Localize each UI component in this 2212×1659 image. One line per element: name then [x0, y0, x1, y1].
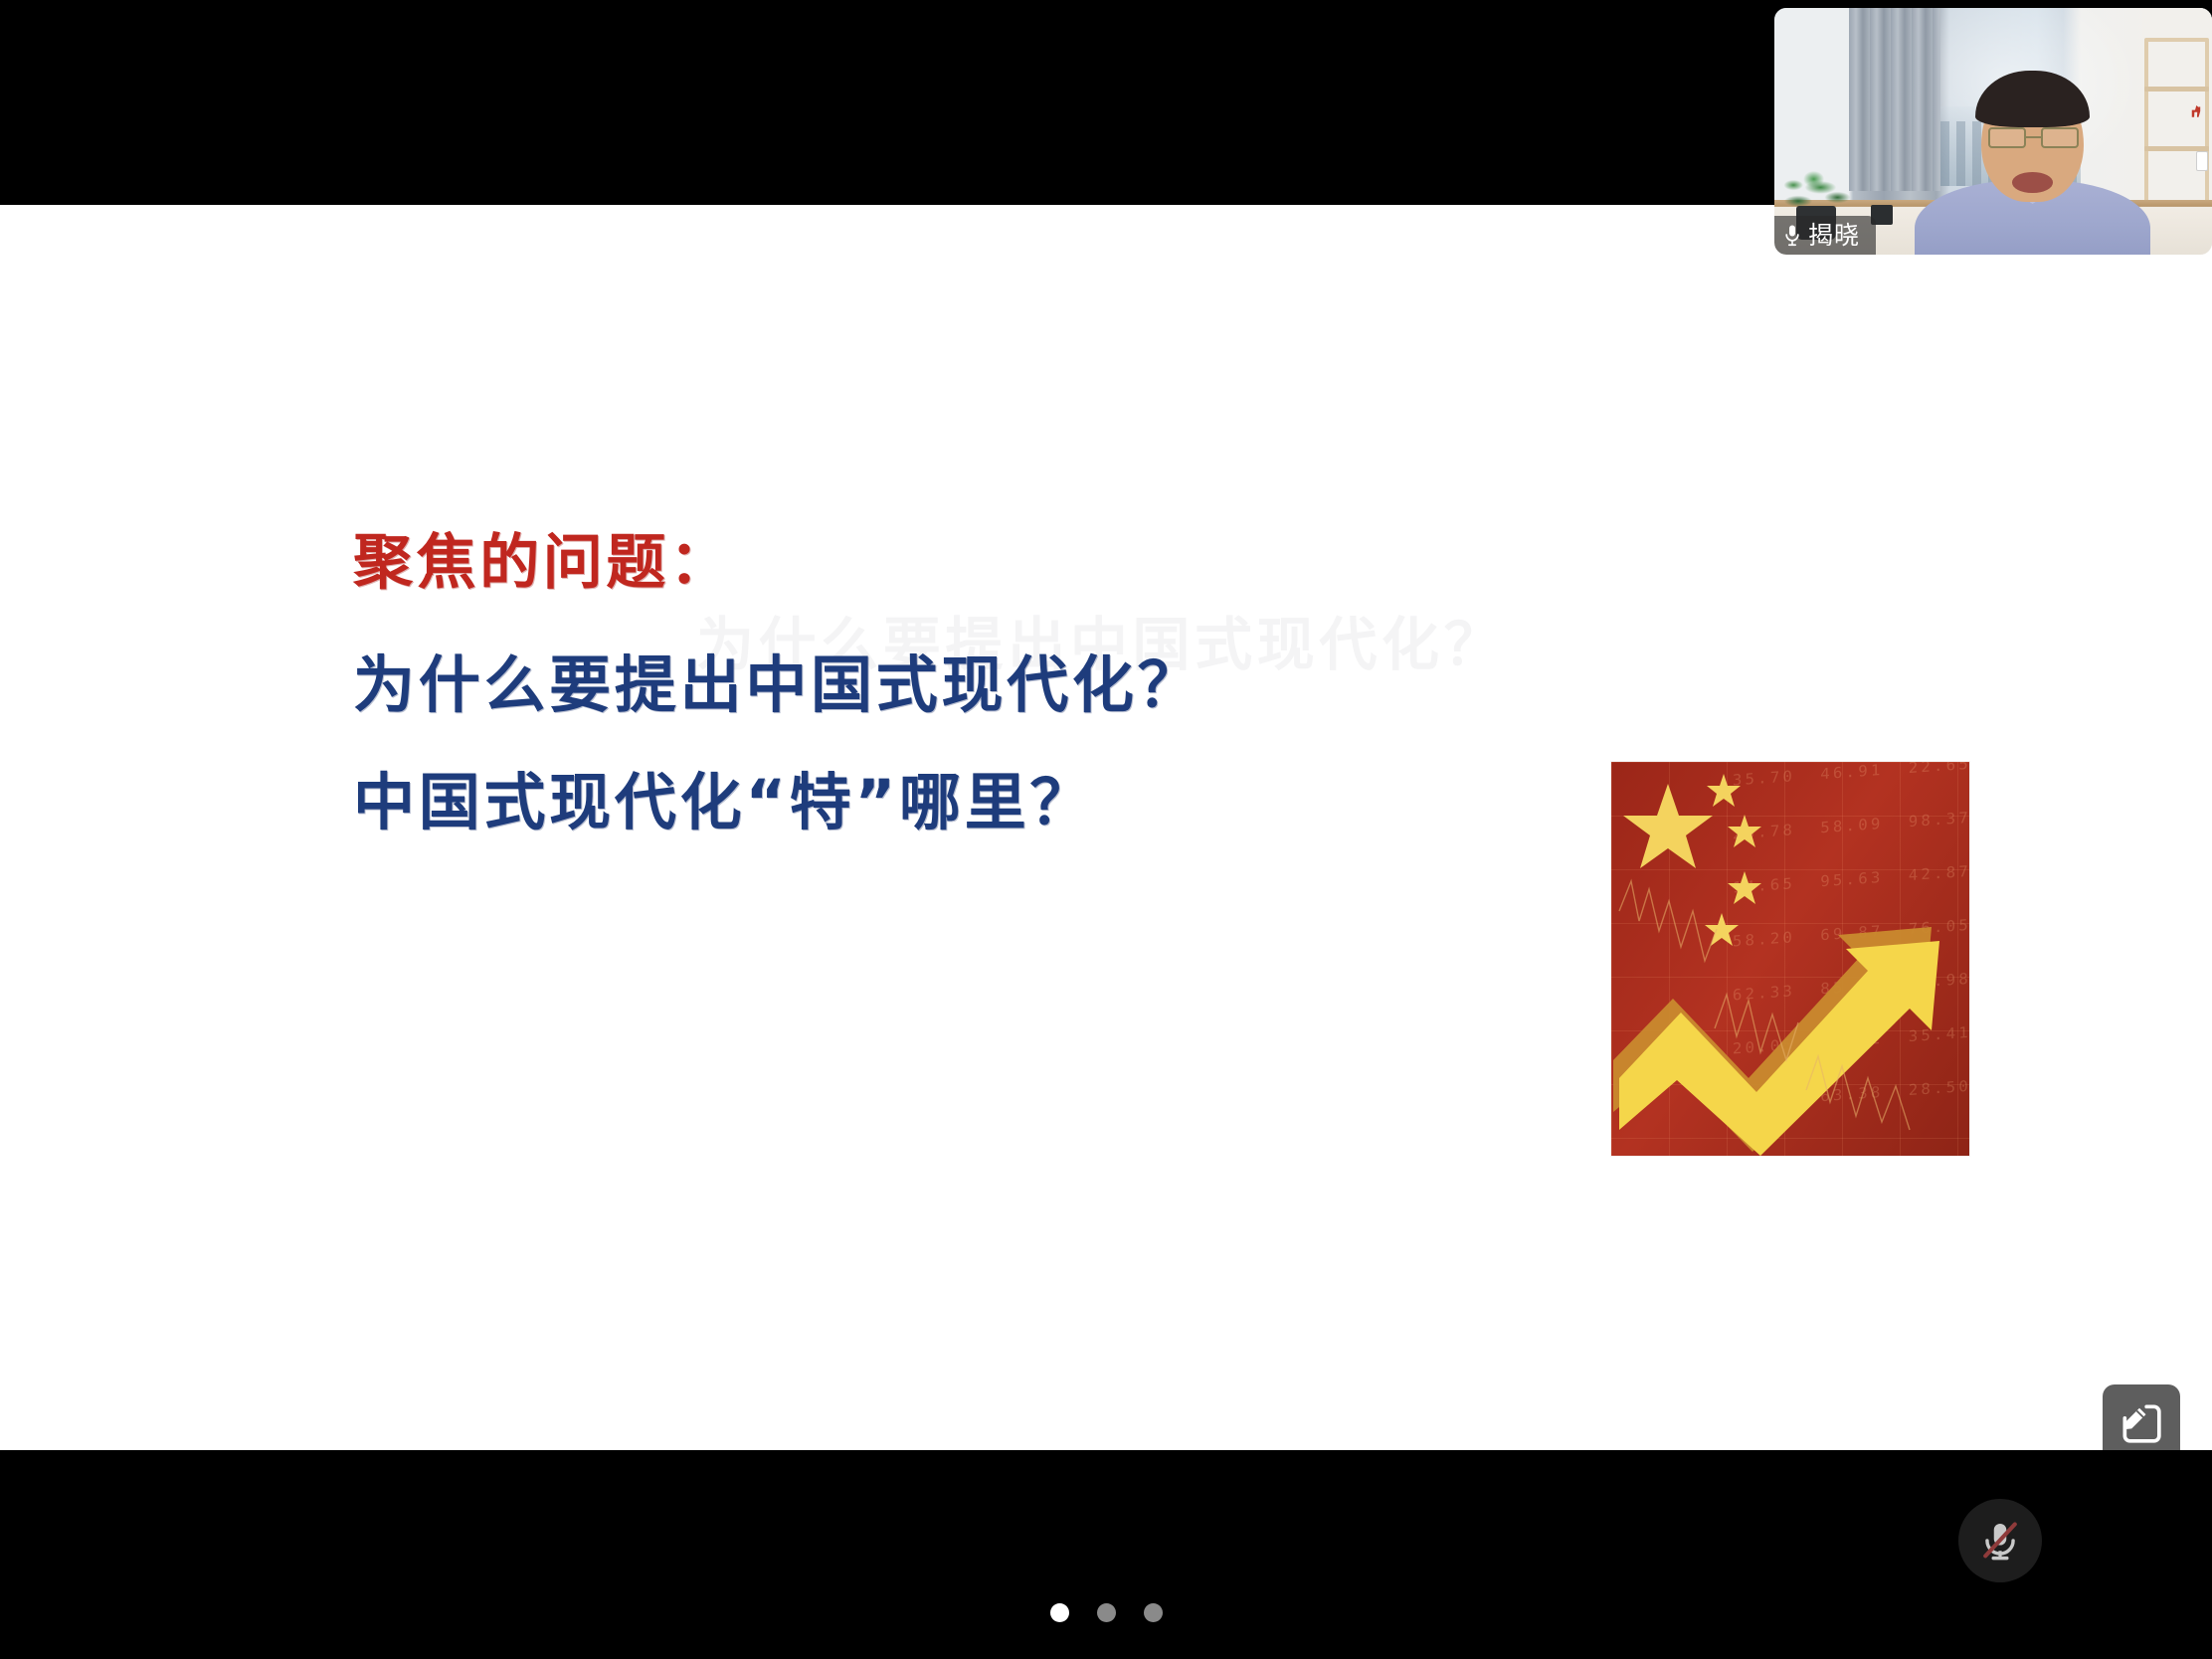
rising-arrow-icon — [1611, 762, 1969, 1156]
participant-person — [1940, 68, 2124, 255]
microphone-icon — [1784, 224, 1800, 248]
person-mouth — [2012, 172, 2053, 193]
pencil-square-annotate-icon — [2119, 1400, 2164, 1446]
microphone-muted-icon — [1975, 1516, 2025, 1566]
curtain — [1849, 8, 1940, 191]
glasses-lens-left — [1988, 127, 2026, 148]
participant-name-label: 揭晓 — [1808, 223, 1860, 248]
mic-mute-button[interactable] — [1958, 1499, 2042, 1582]
page-dot-1[interactable] — [1050, 1603, 1069, 1622]
shelf-board-1 — [2144, 87, 2209, 92]
shelf-frame — [2144, 38, 2209, 216]
participant-name-chip: 揭晓 — [1774, 216, 1876, 255]
shared-slide-surface[interactable]: 为什么要提出中国式现代化？ 聚焦的问题： 为什么要提出中国式现代化？ 中国式现代… — [0, 205, 2212, 1450]
slide-question-1: 为什么要提出中国式现代化？ — [353, 654, 1497, 716]
slide-picture-china-growth: 35.70 46.91 22.65 38.92 34.96 08.85 15.2… — [1611, 762, 1969, 1156]
page-indicator-dots — [0, 1603, 2212, 1622]
page-dot-3[interactable] — [1144, 1603, 1163, 1622]
slide-heading: 聚焦的问题： — [353, 533, 1497, 593]
glasses-lens-right — [2041, 127, 2079, 148]
bottom-control-bar — [0, 1450, 2212, 1659]
page-dot-2[interactable] — [1097, 1603, 1116, 1622]
screen-share-viewer: 为什么要提出中国式现代化？ 聚焦的问题： 为什么要提出中国式现代化？ 中国式现代… — [0, 0, 2212, 1659]
person-glasses — [1988, 127, 2079, 148]
person-hair — [1975, 71, 2090, 127]
glasses-bridge — [2026, 136, 2040, 138]
wall-switch-panel — [2196, 151, 2208, 171]
slide-question-2: 中国式现代化“特”哪里？ — [353, 772, 1497, 833]
participant-video-thumbnail[interactable]: 揭晓 — [1774, 8, 2212, 255]
slide-text-block: 聚焦的问题： 为什么要提出中国式现代化？ 中国式现代化“特”哪里？ — [353, 533, 1497, 833]
